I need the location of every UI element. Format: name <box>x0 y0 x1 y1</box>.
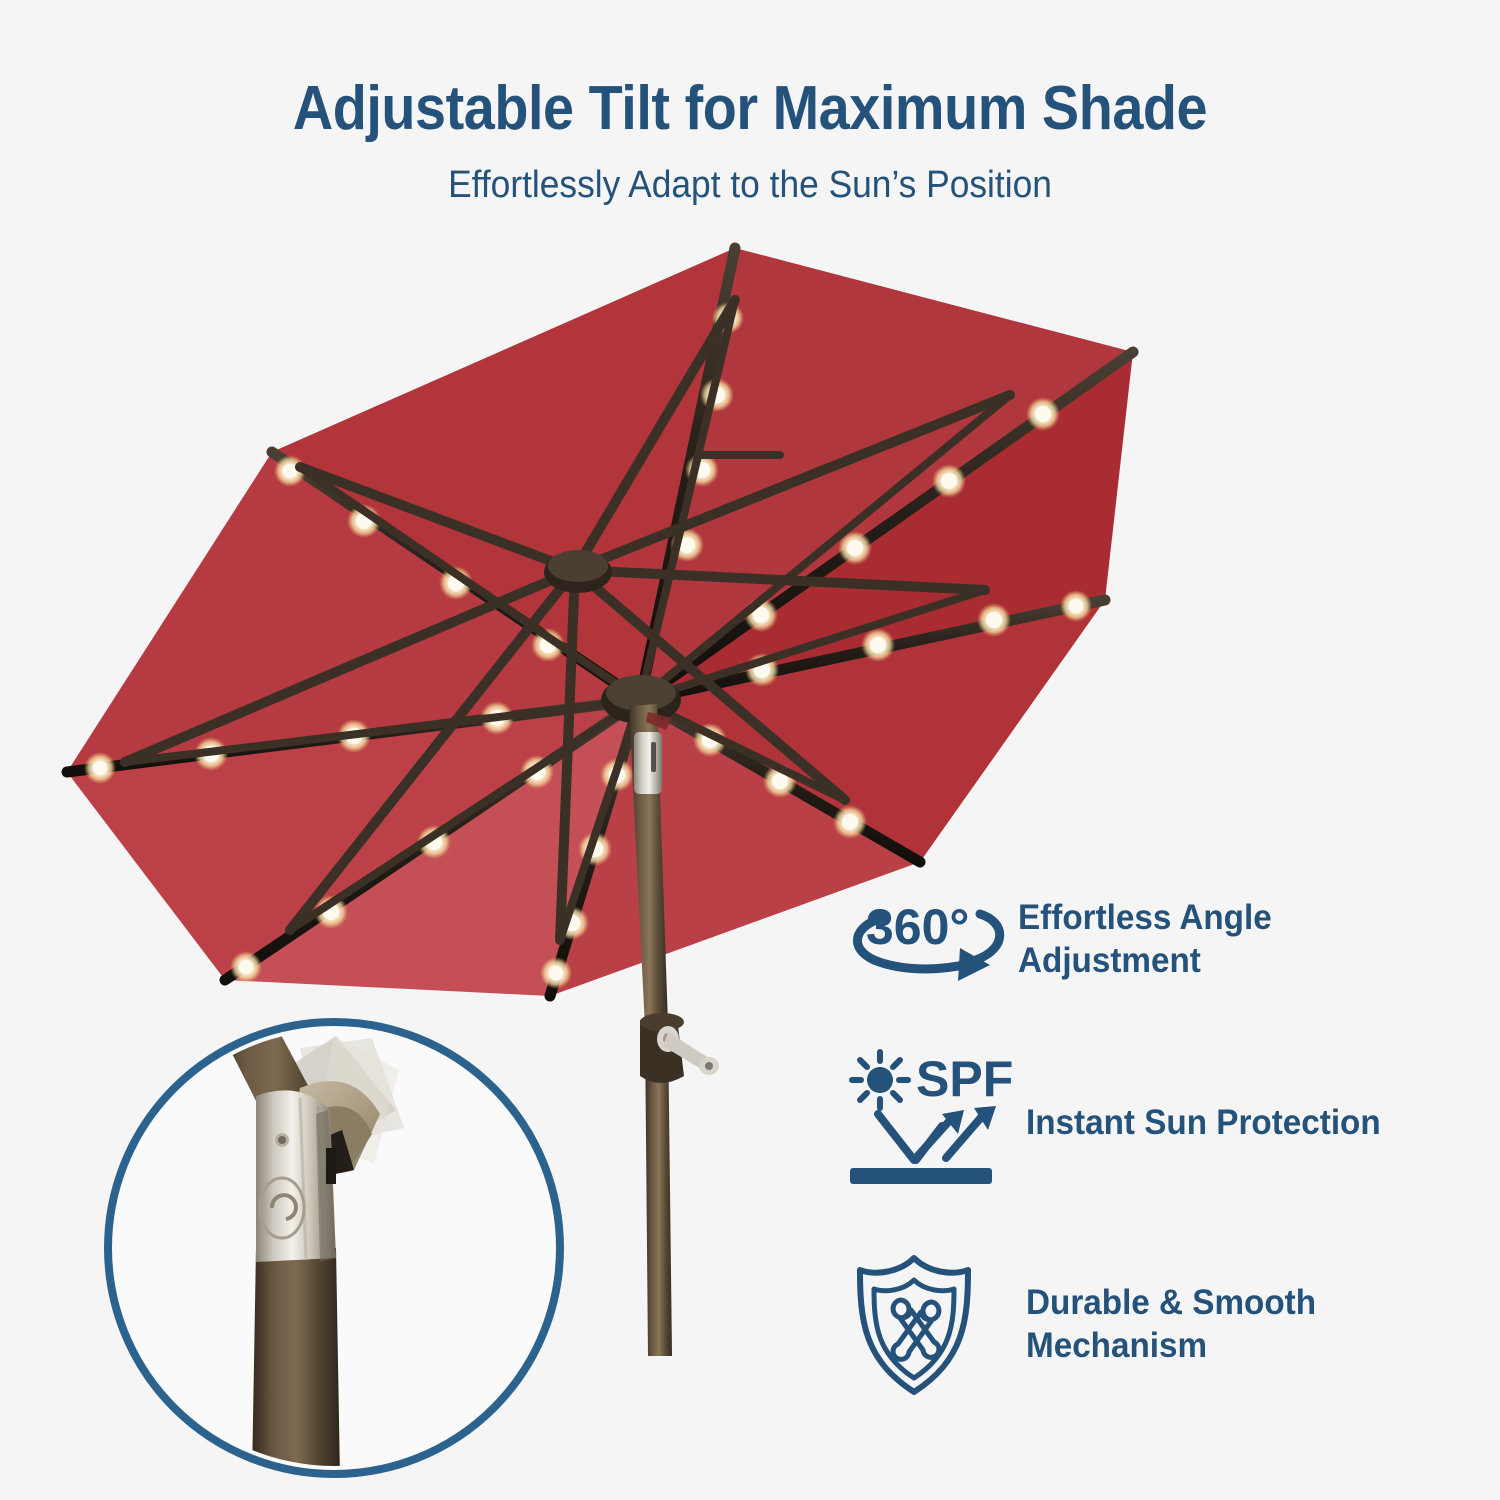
feature-label-line2: Adjustment <box>1018 940 1272 983</box>
spf-icon-label: SPF <box>916 1051 1013 1107</box>
feature-label-line1: Effortless Angle <box>1018 897 1272 940</box>
infographic-root: Adjustable Tilt for Maximum Shade Effort… <box>0 0 1500 1500</box>
feature-label-angle-adjustment: Effortless Angle Adjustment <box>1018 897 1272 982</box>
feature-label-line1: Durable & Smooth <box>1026 1282 1316 1325</box>
lower-hub-runner <box>601 675 681 724</box>
feature-label-durable-mechanism: Durable & Smooth Mechanism <box>1026 1282 1316 1367</box>
upper-hub <box>544 550 612 593</box>
feature-item-durable-mechanism: Durable & Smooth Mechanism <box>848 1250 1488 1400</box>
canopy-support-struts <box>125 300 1010 940</box>
360-rotation-icon: 360° <box>848 888 1018 992</box>
page-title: Adjustable Tilt for Maximum Shade <box>75 0 1425 140</box>
shield-wrench-icon <box>848 1250 1026 1400</box>
feature-list: 360° Effortless Angle Adjustment <box>848 888 1488 1456</box>
header: Adjustable Tilt for Maximum Shade Effort… <box>0 0 1500 204</box>
strut-cross-braces <box>125 300 1010 940</box>
spf-sun-protection-icon: SPF <box>848 1048 1026 1198</box>
umbrella-canopy <box>67 248 1133 996</box>
feature-label-line2: Mechanism <box>1026 1325 1316 1368</box>
tilt-mechanism-closeup-inset <box>104 1018 564 1478</box>
feature-label-sun-protection: Instant Sun Protection <box>1026 1102 1381 1145</box>
umbrella-pole <box>629 704 719 1356</box>
feature-item-sun-protection: SPF Instant Sun Protection <box>848 1048 1488 1198</box>
canopy-ribs-with-leds <box>67 248 1133 996</box>
feature-item-angle-adjustment: 360° Effortless Angle Adjustment <box>848 888 1488 992</box>
360-icon-label: 360° <box>866 899 969 955</box>
led-lights <box>84 302 1092 989</box>
feature-label-line1: Instant Sun Protection <box>1026 1102 1381 1145</box>
page-subtitle: Effortlessly Adapt to the Sun’s Position <box>53 140 1448 204</box>
crank-handle <box>657 1026 719 1075</box>
